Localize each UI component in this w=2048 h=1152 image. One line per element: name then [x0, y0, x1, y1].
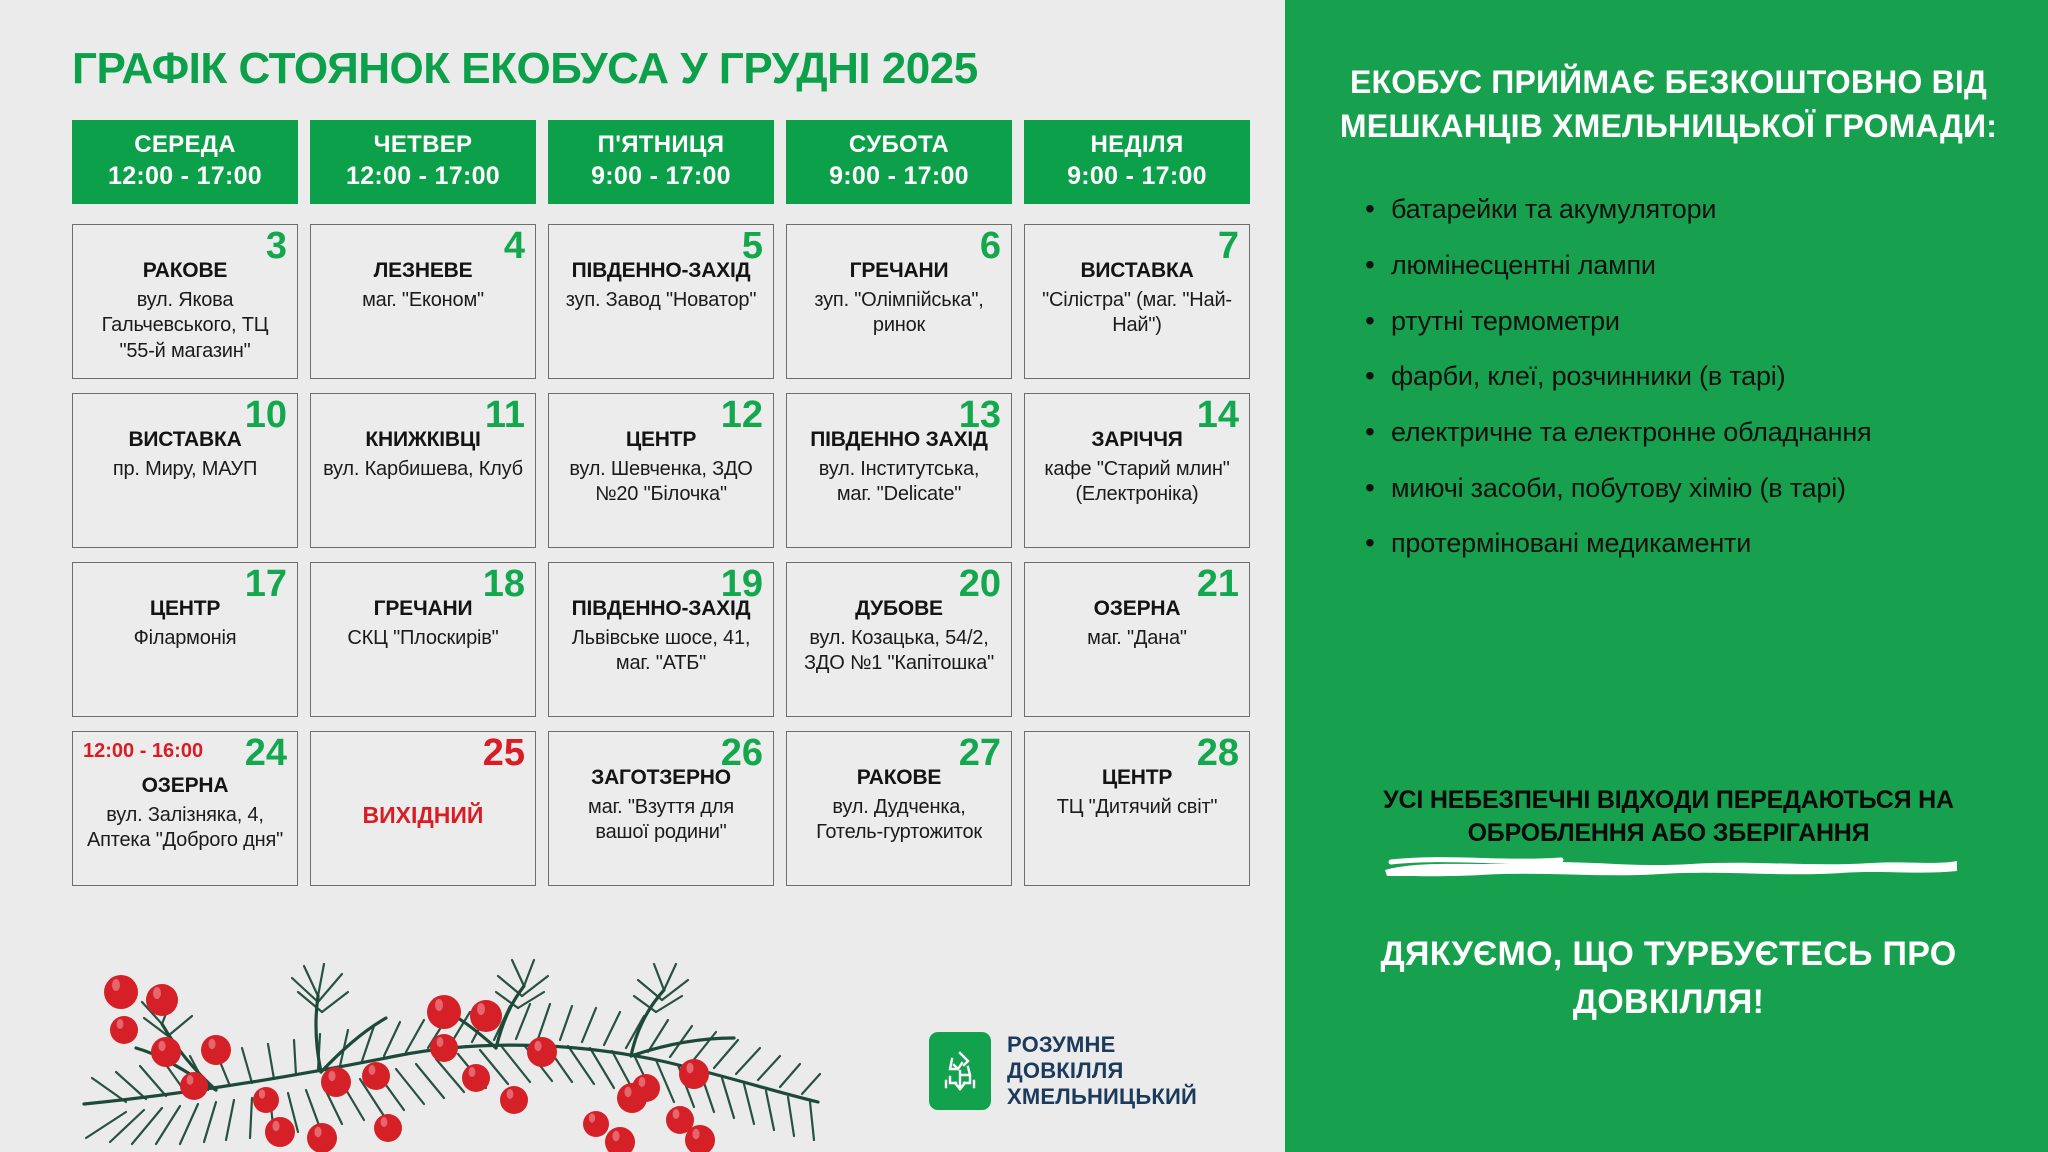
cell-address: кафе "Старий млин" (Електроніка): [1037, 457, 1237, 508]
recycle-tree-icon: [929, 1032, 991, 1110]
brush-underline: [1381, 852, 1961, 878]
waste-list-item: батарейки та акумулятори: [1365, 190, 2008, 230]
logo-wordmark: РОЗУМНЕ ДОВКІЛЛЯ ХМЕЛЬНИЦЬКИЙ: [1007, 1032, 1197, 1110]
calendar-cell[interactable]: 20ДУБОВЕвул. Козацька, 54/2, ЗДО №1 "Кап…: [786, 562, 1012, 717]
cell-place-name: ГРЕЧАНИ: [799, 259, 999, 283]
waste-list-item: люмінесцентні лампи: [1365, 246, 2008, 286]
calendar-cell[interactable]: 25ВИХІДНИЙ: [310, 731, 536, 886]
cell-day-number: 27: [959, 734, 1001, 772]
cell-day-number: 17: [245, 565, 287, 603]
cell-address: маг. "Економ": [323, 288, 523, 314]
cell-day-number: 14: [1197, 396, 1239, 434]
info-panel-title: ЕКОБУС ПРИЙМАЄ БЕЗКОШТОВНО ВІД МЕШКАНЦІВ…: [1329, 60, 2008, 148]
day-header-name: СЕРЕДА: [76, 131, 294, 159]
waste-list-item: ртутні термометри: [1365, 302, 2008, 342]
cell-day-number: 24: [245, 734, 287, 772]
pine-branch-decoration: [66, 952, 836, 1152]
brand-logo: РОЗУМНЕ ДОВКІЛЛЯ ХМЕЛЬНИЦЬКИЙ: [929, 1032, 1197, 1110]
calendar-panel: ГРАФІК СТОЯНОК ЕКОБУСА У ГРУДНІ 2025 СЕР…: [0, 0, 1285, 1152]
calendar-cell[interactable]: 11КНИЖКІВЦІвул. Карбишева, Клуб: [310, 393, 536, 548]
page-title: ГРАФІК СТОЯНОК ЕКОБУСА У ГРУДНІ 2025: [72, 46, 1285, 92]
info-panel: ЕКОБУС ПРИЙМАЄ БЕЗКОШТОВНО ВІД МЕШКАНЦІВ…: [1285, 0, 2048, 1152]
cell-address: Філармонія: [85, 626, 285, 652]
cell-address: пр. Миру, МАУП: [85, 457, 285, 483]
cell-place-name: РАКОВЕ: [85, 259, 285, 283]
calendar-cell[interactable]: 7ВИСТАВКА"Сілістра" (маг. "Най-Най"): [1024, 224, 1250, 379]
waste-list-item: електричне та електронне обладнання: [1365, 413, 2008, 453]
calendar-cell[interactable]: 6ГРЕЧАНИзуп. "Олімпійська", ринок: [786, 224, 1012, 379]
day-header-time: 9:00 - 17:00: [790, 162, 1008, 191]
day-header-time: 9:00 - 17:00: [1028, 162, 1246, 191]
cell-address: вул. Карбишева, Клуб: [323, 457, 523, 483]
day-header-2: ЧЕТВЕР12:00 - 17:00: [310, 120, 536, 204]
calendar-cell[interactable]: 4ЛЕЗНЕВЕмаг. "Економ": [310, 224, 536, 379]
cell-day-number: 12: [721, 396, 763, 434]
calendar-week-1: 3РАКОВЕвул. Якова Гальчевського, ТЦ "55-…: [72, 224, 1230, 379]
calendar-cell[interactable]: 3РАКОВЕвул. Якова Гальчевського, ТЦ "55-…: [72, 224, 298, 379]
calendar-cell[interactable]: 14ЗАРІЧЧЯкафе "Старий млин" (Електроніка…: [1024, 393, 1250, 548]
calendar-cell[interactable]: 28ЦЕНТРТЦ "Дитячий світ": [1024, 731, 1250, 886]
day-header-time: 12:00 - 17:00: [314, 162, 532, 191]
thanks-message: ДЯКУЄМО, ЩО ТУРБУЄТЕСЬ ПРО ДОВКІЛЛЯ!: [1329, 930, 2008, 1027]
waste-list-item: миючі засоби, побутову хімію (в тарі): [1365, 469, 2008, 509]
waste-list-item: фарби, клеї, розчинники (в тарі): [1365, 357, 2008, 397]
cell-day-number: 11: [485, 396, 525, 434]
cell-day-number: 5: [742, 227, 763, 265]
cell-address: вул. Шевченка, ЗДО №20 "Білочка": [561, 457, 761, 508]
cell-day-number: 6: [980, 227, 1001, 265]
cell-day-number: 19: [721, 565, 763, 603]
cell-day-number: 21: [1197, 565, 1239, 603]
cell-day-number: 4: [504, 227, 525, 265]
day-header-name: ЧЕТВЕР: [314, 131, 532, 159]
calendar-cell[interactable]: 26ЗАГОТЗЕРНОмаг. "Взуття для вашої родин…: [548, 731, 774, 886]
day-header-4: СУБОТА9:00 - 17:00: [786, 120, 1012, 204]
cell-day-number: 26: [721, 734, 763, 772]
day-header-3: П'ЯТНИЦЯ9:00 - 17:00: [548, 120, 774, 204]
cell-address: ТЦ "Дитячий світ": [1037, 795, 1237, 821]
cell-day-number: 20: [959, 565, 1001, 603]
accepted-waste-list: батарейки та акумуляторилюмінесцентні ла…: [1329, 190, 2008, 564]
cell-address: "Сілістра" (маг. "Най-Най"): [1037, 288, 1237, 339]
cell-dayoff-label: ВИХІДНИЙ: [323, 802, 523, 829]
cell-day-number: 13: [959, 396, 1001, 434]
cell-address: маг. "Взуття для вашої родини": [561, 795, 761, 846]
cell-address: вул. Дудченка, Готель-гуртожиток: [799, 795, 999, 846]
cell-day-number: 3: [266, 227, 287, 265]
day-header-name: СУБОТА: [790, 131, 1008, 159]
day-header-5: НЕДІЛЯ9:00 - 17:00: [1024, 120, 1250, 204]
calendar-cell[interactable]: 27РАКОВЕвул. Дудченка, Готель-гуртожиток: [786, 731, 1012, 886]
waste-list-item: протерміновані медикаменти: [1365, 524, 2008, 564]
cell-address: Львівське шосе, 41, маг. "АТБ": [561, 626, 761, 677]
calendar-week-2: 10ВИСТАВКАпр. Миру, МАУП11КНИЖКІВЦІвул. …: [72, 393, 1230, 548]
logo-line-1: РОЗУМНЕ: [1007, 1032, 1197, 1058]
calendar-cell[interactable]: 17ЦЕНТРФілармонія: [72, 562, 298, 717]
calendar-cell[interactable]: 12ЦЕНТРвул. Шевченка, ЗДО №20 "Білочка": [548, 393, 774, 548]
cell-place-name: ЛЕЗНЕВЕ: [323, 259, 523, 283]
calendar-week-4: 12:00 - 16:0024ОЗЕРНАвул. Залізняка, 4, …: [72, 731, 1230, 886]
calendar-week-3: 17ЦЕНТРФілармонія18ГРЕЧАНИСКЦ "Плоскирів…: [72, 562, 1230, 717]
cell-address: вул. Козацька, 54/2, ЗДО №1 "Капітошка": [799, 626, 999, 677]
day-header-name: П'ЯТНИЦЯ: [552, 131, 770, 159]
logo-line-2: ДОВКІЛЛЯ: [1007, 1058, 1197, 1084]
day-header-time: 12:00 - 17:00: [76, 162, 294, 191]
cell-address: зуп. "Олімпійська", ринок: [799, 288, 999, 339]
cell-day-number: 10: [245, 396, 287, 434]
disposal-note: УСІ НЕБЕЗПЕЧНІ ВІДХОДИ ПЕРЕДАЮТЬСЯ НА ОБ…: [1329, 784, 2008, 849]
day-header-1: СЕРЕДА12:00 - 17:00: [72, 120, 298, 204]
cell-place-name: ОЗЕРНА: [85, 774, 285, 798]
cell-address: СКЦ "Плоскирів": [323, 626, 523, 652]
cell-place-name: ПІВДЕННО-ЗАХІД: [561, 259, 761, 283]
calendar-cell[interactable]: 21ОЗЕРНАмаг. "Дана": [1024, 562, 1250, 717]
cell-address: маг. "Дана": [1037, 626, 1237, 652]
calendar-cell[interactable]: 5ПІВДЕННО-ЗАХІДзуп. Завод "Новатор": [548, 224, 774, 379]
calendar-cell[interactable]: 12:00 - 16:0024ОЗЕРНАвул. Залізняка, 4, …: [72, 731, 298, 886]
calendar-cell[interactable]: 13ПІВДЕННО ЗАХІДвул. Інститутська, маг. …: [786, 393, 1012, 548]
cell-day-number: 25: [483, 734, 525, 772]
day-header-row: СЕРЕДА12:00 - 17:00ЧЕТВЕР12:00 - 17:00П'…: [72, 120, 1230, 204]
cell-day-number: 18: [483, 565, 525, 603]
calendar-cell[interactable]: 10ВИСТАВКАпр. Миру, МАУП: [72, 393, 298, 548]
cell-day-number: 28: [1197, 734, 1239, 772]
day-header-time: 9:00 - 17:00: [552, 162, 770, 191]
cell-address: вул. Якова Гальчевського, ТЦ "55-й магаз…: [85, 288, 285, 365]
calendar-cell[interactable]: 19ПІВДЕННО-ЗАХІДЛьвівське шосе, 41, маг.…: [548, 562, 774, 717]
cell-address: вул. Залізняка, 4, Аптека "Доброго дня": [85, 803, 285, 854]
day-header-name: НЕДІЛЯ: [1028, 131, 1246, 159]
logo-line-3: ХМЕЛЬНИЦЬКИЙ: [1007, 1084, 1197, 1110]
cell-address: зуп. Завод "Новатор": [561, 288, 761, 314]
calendar-cell[interactable]: 18ГРЕЧАНИСКЦ "Плоскирів": [310, 562, 536, 717]
cell-day-number: 7: [1218, 227, 1239, 265]
cell-place-name: ВИСТАВКА: [1037, 259, 1237, 283]
cell-special-time: 12:00 - 16:00: [83, 741, 203, 761]
cell-address: вул. Інститутська, маг. "Delicate": [799, 457, 999, 508]
